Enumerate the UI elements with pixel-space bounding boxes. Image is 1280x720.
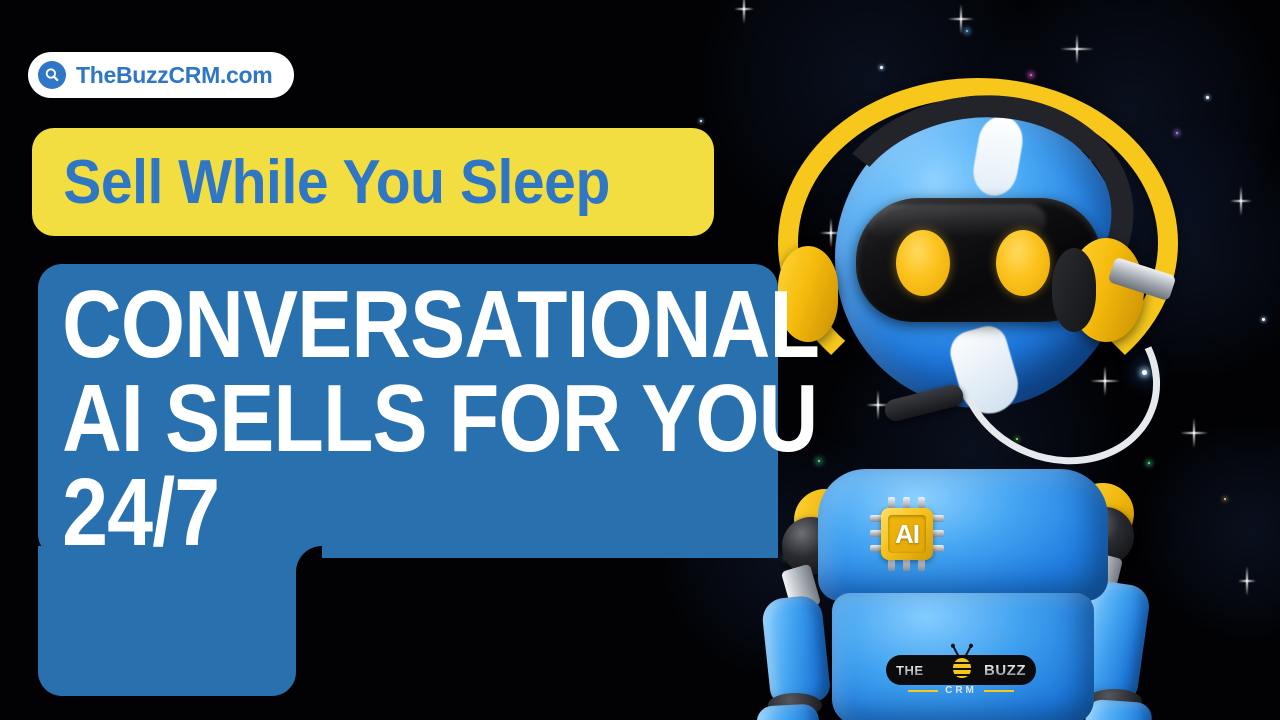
star-flare — [734, 8, 754, 10]
chip-label: AI — [895, 519, 919, 550]
eyebrow-text: Sell While You Sleep — [32, 147, 610, 218]
headline-text: Conversational AI Sells For You 24/7 — [38, 264, 674, 560]
spark — [966, 30, 968, 32]
headline-line-2: AI Sells For You — [62, 372, 674, 466]
chip-body: AI — [881, 508, 933, 560]
ai-chip-badge: AI — [870, 497, 944, 571]
robot-head — [760, 70, 1190, 470]
headline-line-1: Conversational — [62, 278, 674, 372]
headline-panel-lower — [38, 546, 296, 696]
bee-body — [953, 658, 971, 678]
tagline-dash-left — [908, 690, 938, 692]
buzz-crm-logo: THE BUZZ CRM — [886, 645, 1036, 701]
robot-chest — [818, 469, 1108, 601]
logo-word-the: THE — [896, 663, 924, 678]
logo-tagline-row: CRM — [886, 685, 1036, 696]
bee-antenna-left — [953, 646, 960, 657]
logo-tagline: CRM — [945, 685, 977, 696]
search-icon — [38, 61, 66, 89]
headline-line-3: 24/7 — [62, 466, 674, 560]
eyebrow-banner: Sell While You Sleep — [32, 128, 714, 236]
bee-icon — [948, 645, 976, 679]
star-flare — [948, 18, 974, 20]
promo-banner: AI THE BUZZ CRM — [0, 0, 1280, 720]
headline-block: Conversational AI Sells For You 24/7 — [38, 264, 778, 696]
robot-torso: AI THE BUZZ CRM — [720, 455, 1240, 720]
star — [880, 66, 883, 69]
star-flare — [1060, 48, 1094, 50]
logo-word-buzz: BUZZ — [984, 662, 1026, 679]
website-url-label: TheBuzzCRM.com — [76, 62, 272, 89]
tagline-dash-right — [984, 690, 1014, 692]
website-url-pill[interactable]: TheBuzzCRM.com — [28, 52, 294, 98]
bee-antenna-right — [965, 646, 972, 657]
